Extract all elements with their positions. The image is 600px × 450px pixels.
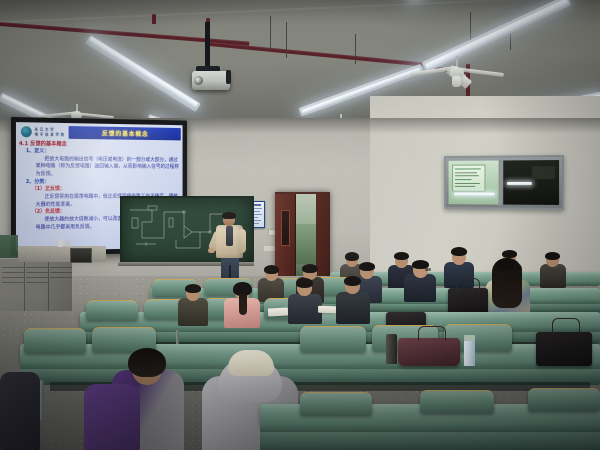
seat-back — [300, 392, 372, 415]
university-emblem-icon — [20, 125, 33, 138]
instructor — [212, 213, 248, 285]
seat-back — [528, 388, 600, 411]
window-mullion — [499, 159, 503, 205]
sprinkler-pipe — [152, 14, 156, 24]
outdoor-foliage — [296, 224, 316, 264]
slide-header: 长 江 大 学 电 子 信 息 学 院 反馈的基本概念 — [18, 124, 181, 141]
door-window-panel — [281, 210, 290, 246]
instructor-hair — [222, 212, 236, 219]
university-name: 长 江 大 学 电 子 信 息 学 院 — [35, 128, 65, 137]
ponytail — [239, 293, 247, 315]
handbag-handle — [456, 278, 480, 291]
instructor-hand — [208, 248, 215, 253]
projector-lens — [194, 76, 203, 85]
window-poster — [452, 164, 485, 191]
instructor-right-arm — [238, 229, 246, 253]
fluorescent-tube-light — [454, 193, 495, 196]
slide-title: 反馈的基本概念 — [102, 129, 149, 138]
fluorescent-tube-light — [507, 182, 532, 185]
window-pane-left — [449, 160, 500, 204]
water-bottle — [464, 340, 475, 366]
sprinkler-pipe — [210, 42, 439, 68]
wall-cabinets[interactable] — [0, 258, 72, 311]
interior-window — [444, 155, 564, 210]
notebook — [318, 306, 336, 314]
notebook — [268, 307, 288, 316]
projector-side-arm — [226, 70, 231, 84]
podium-item — [66, 241, 70, 247]
desk-leg — [40, 380, 44, 420]
teacher-podium — [18, 246, 106, 262]
bag-handle — [552, 318, 580, 335]
bottle-cap — [464, 335, 475, 341]
door-leaf-right[interactable] — [316, 192, 330, 284]
brown-leather-bag — [398, 338, 460, 366]
slide-title-bar: 反馈的基本概念 — [68, 126, 181, 140]
eyeglasses — [425, 268, 431, 271]
bag-handle — [418, 326, 446, 341]
fluorescent-tube-light — [89, 36, 199, 107]
podium-item — [58, 239, 63, 247]
classroom-photo: 长 江 大 学 电 子 信 息 学 院 反馈的基本概念 4.1 反馈的基本概念 … — [0, 0, 600, 450]
projector-mount-pole — [205, 22, 210, 68]
instructor-shirt — [226, 226, 233, 246]
handbag — [536, 332, 592, 366]
slide-line: 把放大电路的输出信号（电压或电流）的一部分或大部分，通过某种电路（称为反馈电路）… — [36, 156, 180, 179]
seat-back — [420, 390, 494, 413]
window-pane-right — [503, 160, 559, 205]
seat-back — [300, 326, 366, 352]
podium-monitor — [70, 248, 92, 263]
seat-back — [24, 328, 86, 353]
seat-back — [86, 300, 138, 320]
hood-fur-lining — [228, 350, 274, 376]
handbag — [448, 288, 488, 314]
thermos-flask — [386, 334, 397, 364]
